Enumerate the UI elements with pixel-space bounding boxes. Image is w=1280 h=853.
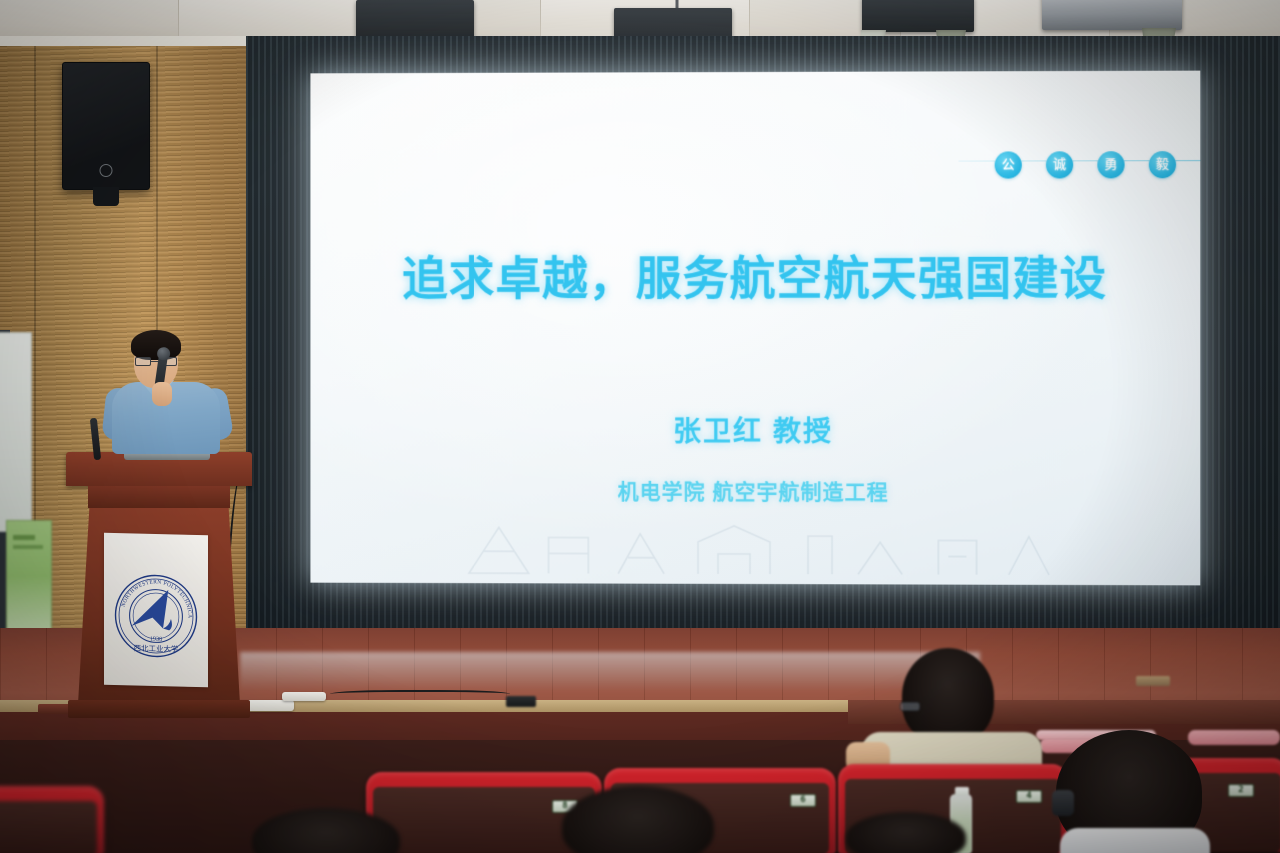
- podium-base: [68, 700, 250, 718]
- auditorium-seat: [0, 786, 104, 853]
- speaker-brand-badge: [100, 164, 113, 177]
- motto-character-2: 诚: [1046, 151, 1073, 178]
- presenter-hair: [131, 330, 181, 360]
- floor-item: [1136, 676, 1170, 686]
- eyeglasses-icon: [900, 702, 920, 711]
- floor-reflection: [240, 652, 980, 692]
- slide-affiliation: 机电学院 航空宇航制造工程: [310, 475, 1200, 507]
- presenter: [106, 330, 228, 452]
- eyeglasses-icon: [1052, 790, 1074, 816]
- lectern-podium: NORTHWESTERN POLYTECHNICAL UNIVERSITY 19…: [66, 452, 252, 722]
- speaker-mount-bracket: [93, 187, 119, 206]
- motto-character-1: 公: [995, 151, 1022, 178]
- slide-watermark-graphic: [429, 507, 1079, 579]
- power-strip: [282, 692, 326, 701]
- university-seal-emblem: NORTHWESTERN POLYTECHNICAL UNIVERSITY 19…: [112, 571, 200, 661]
- motto-character-4: 毅: [1149, 151, 1176, 178]
- podium-front-panel: NORTHWESTERN POLYTECHNICAL UNIVERSITY 19…: [104, 533, 208, 688]
- eyeglasses-icon: [135, 357, 177, 366]
- audience-member-shirt: [1060, 828, 1210, 853]
- audience-member-head: [562, 786, 714, 853]
- seat-number-plaque: 6: [790, 794, 816, 807]
- floor-device: [506, 696, 536, 707]
- seal-year: 1938: [150, 637, 162, 643]
- wall-loudspeaker: [62, 62, 150, 190]
- audience-member-head: [846, 812, 966, 853]
- audience-member-head: [252, 808, 400, 853]
- lecture-hall-photo: 公 诚 勇 毅 追求卓越，服务航空航天强国建设 张卫红 教授 机电学院 航空宇航…: [0, 0, 1280, 853]
- podium-neck: [88, 486, 230, 508]
- slide-speaker-name: 张卫红 教授: [310, 410, 1200, 451]
- projection-slide: 公 诚 勇 毅 追求卓越，服务航空航天强国建设 张卫红 教授 机电学院 航空宇航…: [310, 71, 1200, 586]
- presenter-hand: [152, 382, 172, 406]
- seat-number-plaque: 2: [1228, 784, 1254, 797]
- motto-row: 公 诚 勇 毅: [995, 147, 1201, 182]
- motto-character-3: 勇: [1097, 151, 1124, 178]
- slide-title: 追求卓越，服务航空航天强国建设: [310, 242, 1200, 309]
- floor-cable: [330, 690, 510, 700]
- seal-chinese-name: 西北工业大学: [134, 643, 179, 654]
- whiteboard: [0, 332, 32, 532]
- seat-number-plaque: 4: [1016, 790, 1042, 803]
- audience-member-head: [902, 648, 994, 744]
